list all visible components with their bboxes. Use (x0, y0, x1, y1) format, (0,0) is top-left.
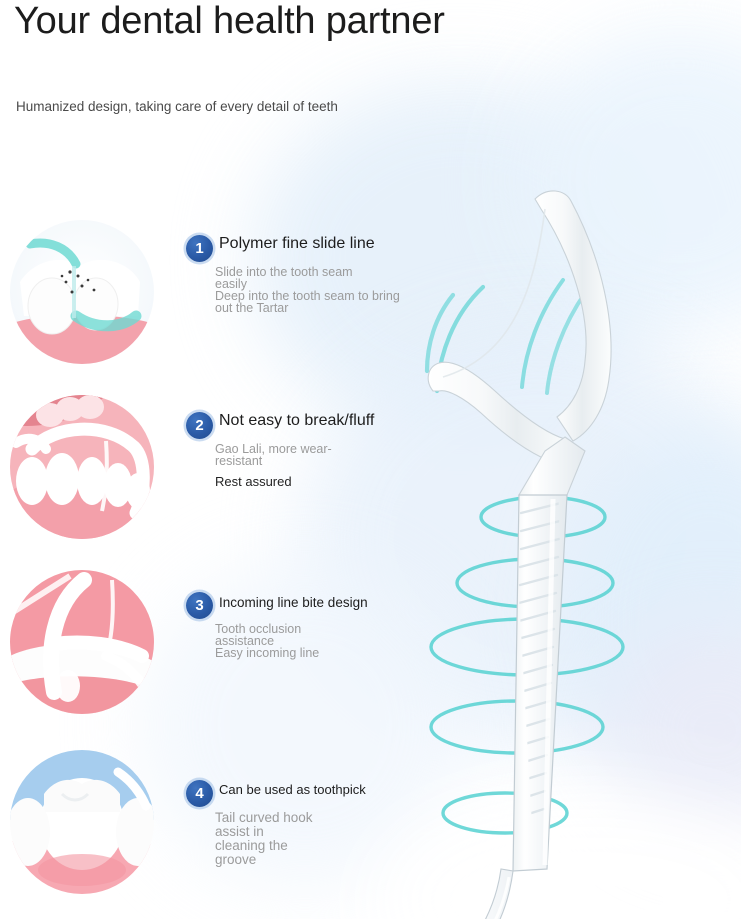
feature-row-2: 2 Not easy to break/fluff Gao Lali, more… (0, 395, 450, 545)
feature-badge-3: 3 (186, 592, 213, 619)
feature-badge-1: 1 (186, 235, 213, 262)
page-subtitle: Humanized design, taking care of every d… (16, 99, 356, 115)
feature-heading-3: Incoming line bite design (219, 595, 368, 610)
feature-subtext-4-line-4: groove (215, 852, 256, 867)
motion-arc-4 (547, 293, 585, 393)
feature-subtext-2-dark-line-1: Rest assured (215, 475, 292, 489)
feature-row-3: 3 Incoming line bite design Tooth occlus… (0, 570, 450, 720)
feature-heading-2: Not easy to break/fluff (219, 412, 374, 430)
feature-subtext-1-line-4: out the Tartar (215, 302, 288, 316)
motion-arc-3 (522, 280, 563, 387)
feature-subtext-4-line-2: assist in (215, 824, 264, 839)
photo-floss-lower-arch (10, 395, 154, 539)
photo-molar-blue-background (10, 750, 154, 894)
product-handle (513, 495, 567, 871)
photo-floss-between-molars (10, 220, 154, 364)
feature-subtext-2-line-2: resistant (215, 455, 262, 469)
photo-floss-closeup-gums (10, 570, 154, 714)
feature-row-1: 1 Polymer fine slide line Slide into the… (0, 220, 450, 370)
feature-heading-4: Can be used as toothpick (219, 782, 366, 797)
feature-heading-1: Polymer fine slide line (219, 235, 375, 253)
page-title: Your dental health partner (14, 0, 445, 44)
feature-badge-4: 4 (186, 780, 213, 807)
feature-subtext-3-line-3: Easy incoming line (215, 647, 319, 661)
feature-row-4: 4 Can be used as toothpick Tail curved h… (0, 750, 450, 900)
feature-subtext-4-line-3: cleaning the (215, 838, 288, 853)
feature-subtext-4-line-1: Tail curved hook (215, 810, 313, 825)
feature-badge-2: 2 (186, 412, 213, 439)
